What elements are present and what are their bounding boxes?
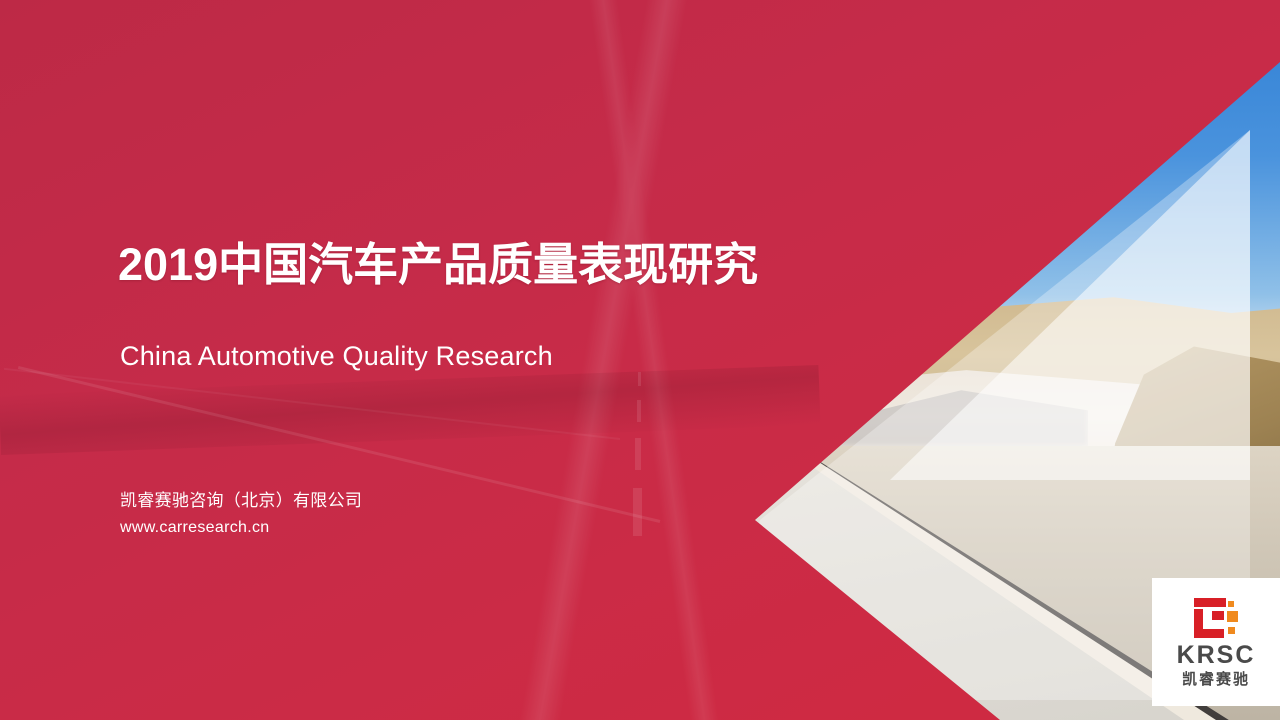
company-name: 凯睿赛驰咨询（北京）有限公司 — [120, 486, 362, 511]
road-centre-dash — [636, 436, 642, 468]
company-website: www.carresearch.cn — [120, 519, 269, 537]
logo-wordmark: KRSC — [1177, 643, 1256, 668]
logo-wordmark-cn: 凯睿赛驰 — [1182, 672, 1250, 687]
page-title: 2019中国汽车产品质量表现研究 — [118, 228, 758, 293]
page-subtitle: China Automotive Quality Research — [120, 341, 553, 372]
sky-region — [0, 0, 1280, 346]
krsc-logo-icon — [1190, 598, 1242, 638]
road-centre-dash — [637, 398, 641, 420]
road-centre-dash — [638, 370, 641, 386]
company-logo: KRSC 凯睿赛驰 — [1152, 578, 1280, 706]
title-slide: 2019中国汽车产品质量表现研究 China Automotive Qualit… — [0, 0, 1280, 720]
road-centre-dash — [634, 486, 642, 532]
